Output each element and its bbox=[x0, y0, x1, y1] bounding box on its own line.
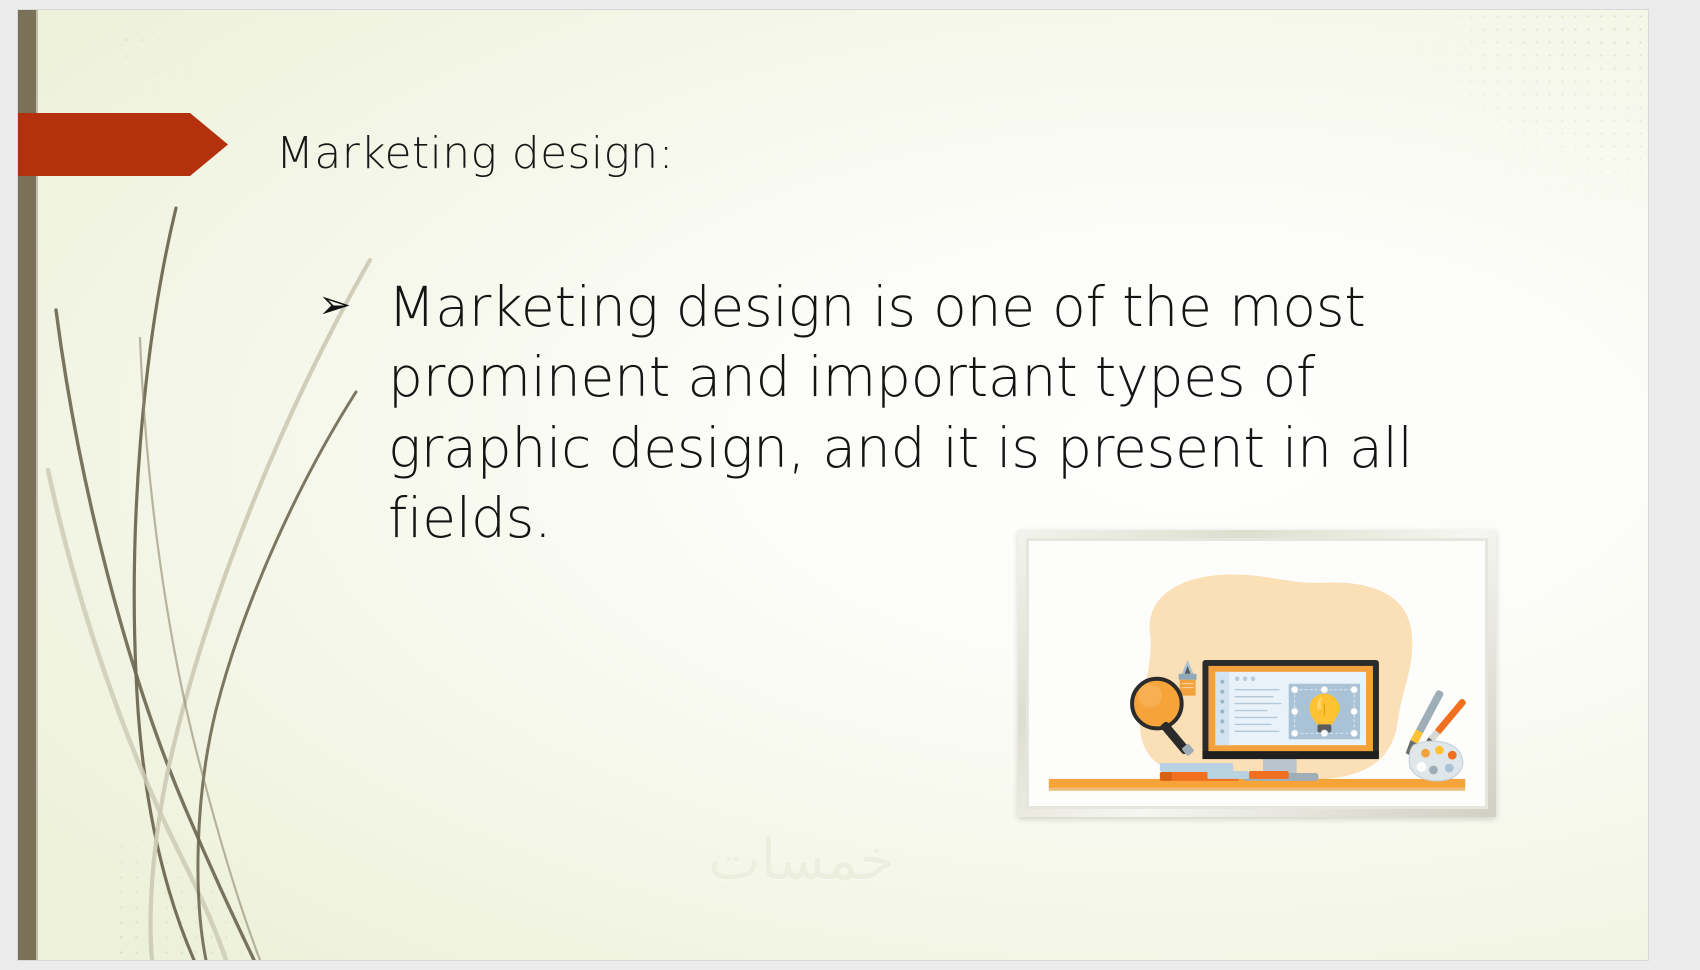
speckle-pattern-bottom-left bbox=[114, 780, 334, 960]
page-title: Marketing design: bbox=[276, 128, 1176, 179]
bullet-item-text: Marketing design is one of the most prom… bbox=[388, 272, 1448, 554]
slide-viewport: Marketing design: ➢ Marketing design is … bbox=[0, 0, 1700, 970]
monitor-bezel-shadow bbox=[1202, 751, 1378, 759]
palette-well-yellow bbox=[1435, 746, 1444, 755]
graphic-design-workspace-illustration bbox=[1029, 541, 1485, 808]
picture-frame[interactable] bbox=[1018, 530, 1496, 817]
desk-items bbox=[1207, 771, 1288, 779]
palette-well-blue bbox=[1445, 764, 1454, 773]
arrowhead-bullet-icon: ➢ bbox=[318, 272, 370, 331]
presentation-slide: Marketing design: ➢ Marketing design is … bbox=[18, 10, 1648, 960]
palette-thumb-hole bbox=[1417, 762, 1427, 772]
arrow-banner bbox=[18, 113, 228, 176]
palette-well-orange bbox=[1421, 749, 1430, 758]
picture-frame-mat bbox=[1026, 538, 1488, 809]
bullet-list: ➢ Marketing design is one of the most pr… bbox=[318, 272, 1448, 554]
watermark-text: خمسات bbox=[708, 828, 895, 893]
desk-shadow bbox=[1049, 788, 1465, 791]
app-window-dots bbox=[1235, 677, 1255, 682]
palette-well-grey bbox=[1429, 766, 1438, 775]
paint-palette bbox=[1409, 741, 1462, 781]
speckle-pattern-top-right bbox=[1348, 10, 1648, 250]
palette-well-red bbox=[1448, 751, 1457, 760]
